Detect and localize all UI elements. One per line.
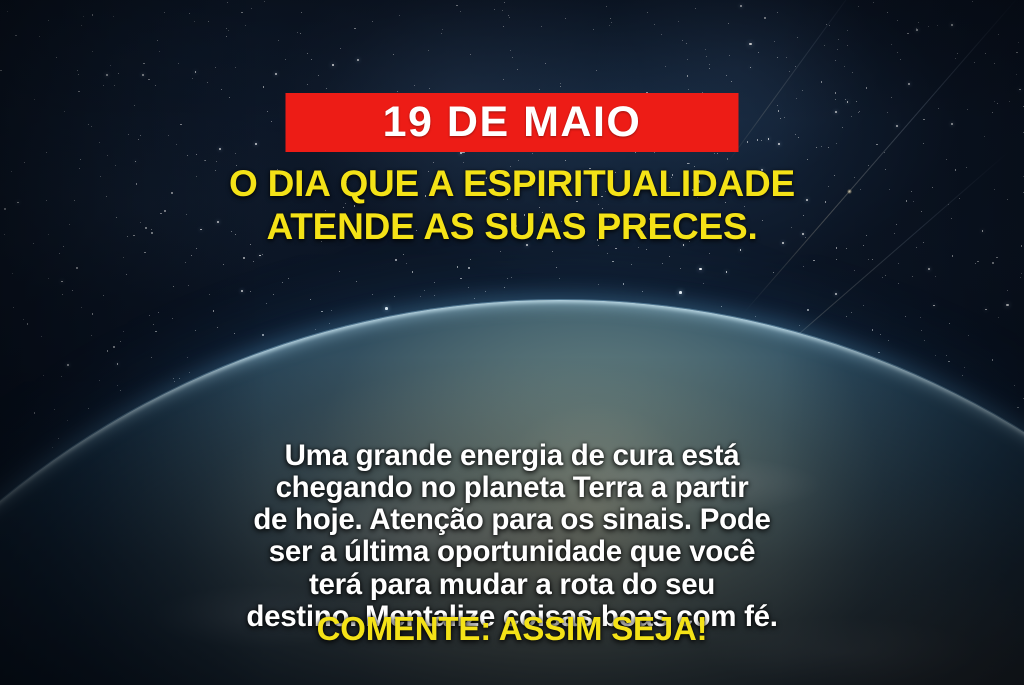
headline: O DIA QUE A ESPIRITUALIDADE ATENDE AS SU…	[0, 163, 1024, 249]
body-line-4: ser a última oportunidade que você	[0, 536, 1024, 568]
poster-content: 19 DE MAIO O DIA QUE A ESPIRITUALIDADE A…	[0, 0, 1024, 685]
date-banner-label: 19 DE MAIO	[383, 101, 642, 144]
date-banner: 19 DE MAIO	[286, 93, 739, 152]
body-line-3: de hoje. Atenção para os sinais. Pode	[0, 504, 1024, 536]
body-line-5: terá para mudar a rota do seu	[0, 569, 1024, 601]
poster-image: 19 DE MAIO O DIA QUE A ESPIRITUALIDADE A…	[0, 0, 1024, 685]
body-paragraph: Uma grande energia de cura está chegando…	[0, 440, 1024, 633]
body-line-1: Uma grande energia de cura está	[0, 440, 1024, 472]
headline-line-2: ATENDE AS SUAS PRECES.	[0, 206, 1024, 249]
headline-line-1: O DIA QUE A ESPIRITUALIDADE	[0, 163, 1024, 206]
call-to-action-text: COMENTE: ASSIM SEJA!	[0, 612, 1024, 645]
body-line-2: chegando no planeta Terra a partir	[0, 472, 1024, 504]
